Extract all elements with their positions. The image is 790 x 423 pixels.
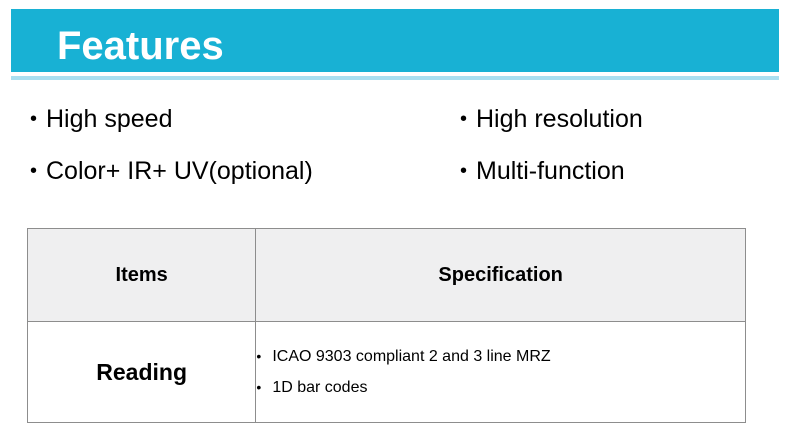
bullet-icon: •	[256, 372, 272, 403]
row-label-reading: Reading	[28, 322, 256, 423]
column-header-specification: Specification	[256, 229, 746, 322]
features-column-right: • High resolution • Multi-function	[460, 104, 643, 208]
list-item-label: ICAO 9303 compliant 2 and 3 line MRZ	[272, 341, 550, 372]
feature-item: • High resolution	[460, 104, 643, 134]
bullet-icon: •	[460, 156, 476, 186]
list-item-label: 1D bar codes	[272, 372, 367, 403]
specification-table: Items Specification Reading • ICAO 9303 …	[27, 228, 746, 423]
feature-label: Color+ IR+ UV(optional)	[46, 156, 313, 186]
bullet-icon: •	[30, 104, 46, 134]
feature-label: High resolution	[476, 104, 643, 134]
feature-item: • Color+ IR+ UV(optional)	[30, 156, 313, 186]
features-page: Features • High speed • Color+ IR+ UV(op…	[0, 0, 790, 403]
list-item: • 1D bar codes	[256, 372, 745, 403]
header-banner: Features	[11, 9, 779, 72]
row-spec-reading: • ICAO 9303 compliant 2 and 3 line MRZ •…	[256, 322, 746, 423]
bullet-icon: •	[460, 104, 476, 134]
features-column-left: • High speed • Color+ IR+ UV(optional)	[30, 104, 313, 208]
bullet-icon: •	[256, 341, 272, 372]
feature-label: Multi-function	[476, 156, 625, 186]
bullet-icon: •	[30, 156, 46, 186]
page-title: Features	[57, 22, 224, 70]
column-header-items: Items	[28, 229, 256, 322]
spec-bullet-list: • ICAO 9303 compliant 2 and 3 line MRZ •…	[256, 341, 745, 403]
features-list: • High speed • Color+ IR+ UV(optional) •…	[0, 104, 790, 202]
table-row: Reading • ICAO 9303 compliant 2 and 3 li…	[28, 322, 746, 423]
feature-item: • High speed	[30, 104, 313, 134]
feature-item: • Multi-function	[460, 156, 643, 186]
feature-label: High speed	[46, 104, 172, 134]
list-item: • ICAO 9303 compliant 2 and 3 line MRZ	[256, 341, 745, 372]
table-header-row: Items Specification	[28, 229, 746, 322]
header-underline-divider	[11, 76, 779, 80]
